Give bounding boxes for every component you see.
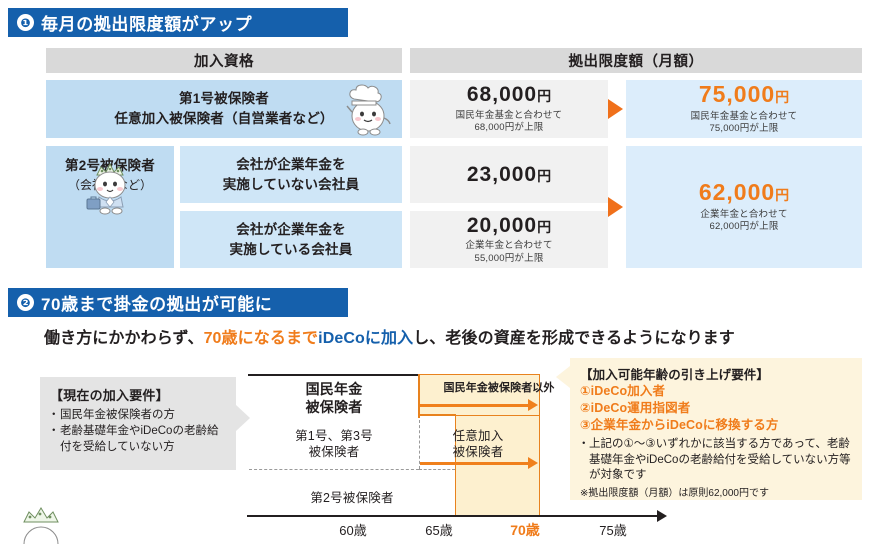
section-1-number: ❶ xyxy=(17,14,34,31)
age-axis-line xyxy=(247,515,659,517)
row-2-new-unit: 円 xyxy=(775,187,789,203)
diagram-extension-arrowhead-top xyxy=(528,399,538,411)
increase-arrow-icon-row1 xyxy=(608,99,623,119)
table-row-2-sub-a: 会社が企業年金を 実施していない会社員 xyxy=(180,146,402,203)
raise-requirements-box: 【加入可能年齢の引き上げ要件】 ①iDeCo加入者 ②iDeCo運用指図者 ③企… xyxy=(570,358,862,500)
row-1-old-amount: 68,000 xyxy=(467,83,537,106)
current-requirements-title: 【現在の加入要件】 xyxy=(50,385,227,404)
chef-mascot-icon xyxy=(338,84,394,141)
row-2-new-note-line1: 企業年金と合わせて xyxy=(700,209,787,220)
current-requirements-list: 国民年金被保険者の方 老齢基礎年金やiDeCoの老齢給付を受給していない方 xyxy=(50,408,227,455)
axis-tick-65: 65歳 xyxy=(409,520,469,539)
office-worker-mascot-icon xyxy=(79,159,141,220)
section-2-lead-text: 働き方にかかわらず、70歳になるまでiDeCoに加入し、老後の資産を形成できるよ… xyxy=(44,324,735,348)
diagram-region-left-edge xyxy=(418,374,420,418)
diagram-extension-arrow-bottom xyxy=(420,462,530,465)
diagram-label-no1-no3: 第1号、第3号 被保険者 xyxy=(252,428,416,461)
diagram-region-seam xyxy=(418,414,456,416)
lead-highlight-blue: iDeCoに加入 xyxy=(318,330,413,347)
row-1-new-unit: 円 xyxy=(775,89,789,105)
row-1-new-amount: 75,000 xyxy=(699,81,775,107)
diagram-divider-1 xyxy=(249,469,419,470)
raise-requirement-item-3: ③企業年金からiDeCoに移換する方 xyxy=(580,417,854,434)
axis-tick-75: 75歳 xyxy=(583,520,643,539)
table-header-limit: 拠出限度額（月額） xyxy=(410,48,862,73)
diagram-label-voluntary: 任意加入 被保険者 xyxy=(424,428,532,461)
row-2-sub-b-line2: 実施している会社員 xyxy=(230,242,353,257)
diagram-top-rule xyxy=(248,374,418,376)
row-1-new-note-line1: 国民年金基金と合わせて xyxy=(691,111,798,122)
raise-requirements-bullet: 上記の①〜③いずれかに該当する方であって、老齢基礎年金やiDeCoの老齢給付を受… xyxy=(580,437,854,483)
section-2-title: 70歳まで掛金の拠出が可能に xyxy=(41,290,272,315)
diagram-extension-arrowhead-bottom xyxy=(528,457,538,469)
table-row-1-qualification: 第1号被保険者 任意加入被保険者（自営業者など） xyxy=(46,80,402,138)
crown-mascot-icon xyxy=(6,500,86,549)
diagram-no13-line1: 第1号、第3号 xyxy=(295,429,373,443)
table-row-2-qualification: 第2号被保険者 （会社員など） xyxy=(46,146,174,268)
row-1-old-note-line1: 国民年金基金と合わせて xyxy=(456,110,563,121)
row-1-new-note-line2: 75,000円が上限 xyxy=(709,123,778,134)
row-2-new-amount: 62,000 xyxy=(699,179,775,205)
row-2-sub-b-old-note-line2: 55,000円が上限 xyxy=(474,253,543,264)
diagram-nini-line2: 被保険者 xyxy=(453,445,504,459)
diagram-label-non-insured: 国民年金被保険者以外 xyxy=(424,379,574,395)
raise-requirements-title: 【加入可能年齢の引き上げ要件】 xyxy=(580,364,854,383)
infographic-page: ❶ 毎月の拠出限度額がアップ 加入資格 拠出限度額（月額） 第1号被保険者 任意… xyxy=(0,0,870,540)
raise-requirement-item-2: ②iDeCo運用指図者 xyxy=(580,400,854,417)
raise-requirement-item-1: ①iDeCo加入者 xyxy=(580,383,854,400)
diagram-label-kokumin-nenkin: 国民年金 被保険者 xyxy=(252,381,416,417)
section-2-header: ❷ 70歳まで掛金の拠出が可能に xyxy=(8,288,348,317)
row-2-sub-a-old-amount: 23,000 xyxy=(467,163,537,186)
row-2-sub-b-line1: 会社が企業年金を xyxy=(236,222,346,237)
section-1-header: ❶ 毎月の拠出限度額がアップ xyxy=(8,8,348,37)
diagram-kokumin-line2: 被保険者 xyxy=(306,399,363,415)
raise-requirements-note: ※拠出限度額（月額）は原則62,000円です xyxy=(580,484,854,499)
row-1-old-amount-cell: 68,000円 国民年金基金と合わせて 68,000円が上限 xyxy=(410,80,608,138)
current-requirement-item-1: 国民年金被保険者の方 xyxy=(50,408,227,423)
age-axis-arrowhead xyxy=(657,510,667,522)
row-2-sub-a-line1: 会社が企業年金を xyxy=(236,157,346,172)
lead-highlight-orange: 70歳になるまで xyxy=(204,330,319,347)
axis-tick-60: 60歳 xyxy=(323,520,383,539)
row-2-new-amount-cell: 62,000円 企業年金と合わせて 62,000円が上限 xyxy=(626,146,862,268)
row-2-sub-b-old-note-line1: 企業年金と合わせて xyxy=(465,240,552,251)
row-2-sub-a-line2: 実施していない会社員 xyxy=(223,177,360,192)
row-2-new-note-line2: 62,000円が上限 xyxy=(709,221,778,232)
row-1-old-note-line2: 68,000円が上限 xyxy=(474,122,543,133)
diagram-no13-line2: 被保険者 xyxy=(309,445,360,459)
row-1-old-unit: 円 xyxy=(537,88,551,104)
row-1-new-amount-cell: 75,000円 国民年金基金と合わせて 75,000円が上限 xyxy=(626,80,862,138)
row-2-sub-a-old-amount-cell: 23,000円 xyxy=(410,146,608,203)
lead-part2: し、老後の資産を形成できるようになります xyxy=(413,330,735,347)
section-2-number: ❷ xyxy=(17,294,34,311)
diagram-divider-2 xyxy=(419,469,455,470)
table-row-2-sub-b: 会社が企業年金を 実施している会社員 xyxy=(180,211,402,268)
section-1-title: 毎月の拠出限度額がアップ xyxy=(41,10,252,35)
row-2-sub-b-old-amount-cell: 20,000円 企業年金と合わせて 55,000円が上限 xyxy=(410,211,608,268)
row-2-sub-b-old-amount: 20,000 xyxy=(467,214,537,237)
current-requirements-box: 【現在の加入要件】 国民年金被保険者の方 老齢基礎年金やiDeCoの老齢給付を受… xyxy=(40,377,236,470)
diagram-label-no2: 第2号被保険者 xyxy=(252,487,452,506)
lead-part1: 働き方にかかわらず、 xyxy=(44,330,204,347)
axis-tick-70: 70歳 xyxy=(495,520,555,540)
current-requirement-item-2: 老齢基礎年金やiDeCoの老齢給付を受給していない方 xyxy=(50,424,227,455)
diagram-extension-arrow-top xyxy=(420,404,530,407)
diagram-nini-line1: 任意加入 xyxy=(453,429,504,443)
row-1-qualification-line1: 第1号被保険者 xyxy=(179,91,269,106)
row-1-qualification-line2: 任意加入被保険者（自営業者など） xyxy=(114,111,333,126)
row-2-sub-b-old-unit: 円 xyxy=(537,219,551,235)
left-callout-pointer-icon xyxy=(236,405,250,431)
increase-arrow-icon-row2 xyxy=(608,197,623,217)
table-header-qualification: 加入資格 xyxy=(46,48,402,73)
row-2-sub-a-old-unit: 円 xyxy=(537,168,551,184)
diagram-kokumin-line1: 国民年金 xyxy=(306,381,363,397)
